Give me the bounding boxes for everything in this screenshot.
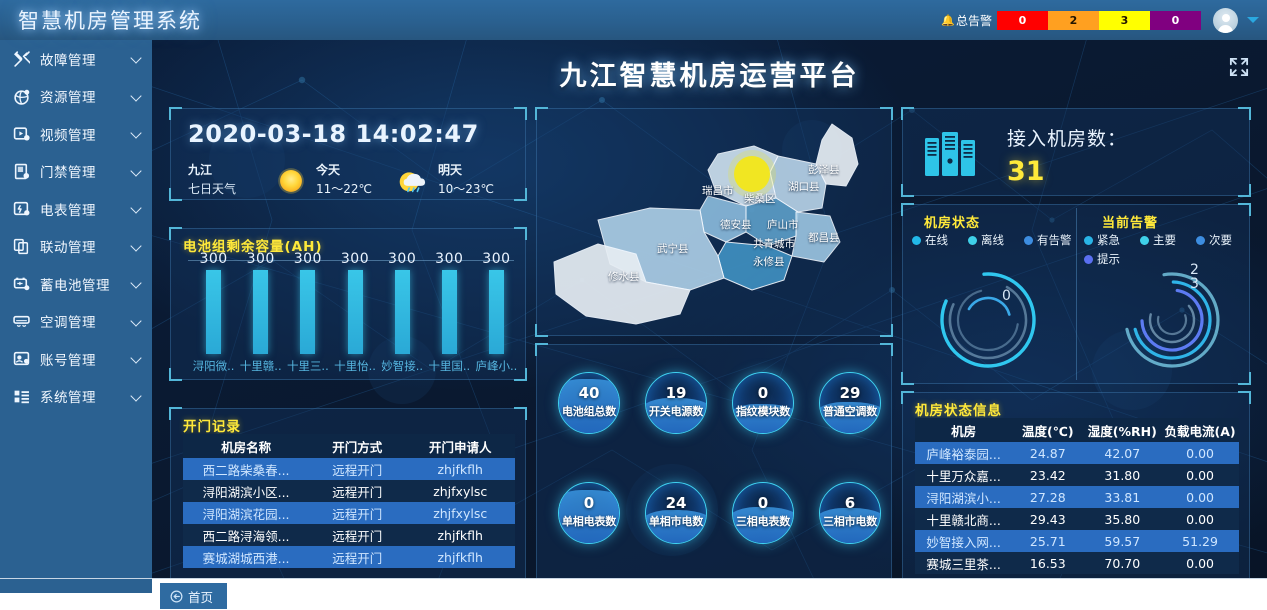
chevron-down-icon[interactable]	[131, 316, 142, 327]
legend-color-dot	[1196, 236, 1205, 245]
bar-column: 300	[239, 251, 283, 354]
room-status-donut-value: 0	[1002, 288, 1011, 304]
home-circle-icon	[170, 590, 183, 603]
room-status-panel-title: 机房状态信息	[915, 399, 1002, 419]
stat-circle-0[interactable]: 40电池组总数	[558, 372, 620, 434]
stat-circle-label: 指纹模块数	[733, 403, 793, 419]
table-row[interactable]: 十里万众嘉...23.4231.800.00	[915, 464, 1239, 486]
clock-weather-panel: 2020-03-18 14:02:47 九江 七日天气	[170, 108, 526, 200]
chevron-down-icon[interactable]	[131, 166, 142, 177]
weather-today: 今天 11～22℃	[272, 161, 372, 199]
legend-label: 次要	[1209, 232, 1232, 248]
current-datetime: 2020-03-18 14:02:47	[188, 120, 479, 148]
table-row[interactable]: 庐峰裕泰园...24.8742.070.00	[915, 442, 1239, 464]
table-row[interactable]: 浔阳湖滨小...27.2833.810.00	[915, 486, 1239, 508]
door-lock-icon	[11, 161, 31, 181]
battery-gear-icon	[11, 274, 31, 294]
stat-circle-6[interactable]: 0三相电表数	[732, 482, 794, 544]
bar-value-label: 300	[286, 251, 330, 267]
table-cell: zhjfkflh	[405, 550, 515, 565]
table-cell: 0.00	[1161, 468, 1239, 483]
table-cell: 远程开门	[309, 526, 405, 545]
stat-circle-label: 单相市电数	[646, 513, 706, 529]
globe-gear-icon	[11, 86, 31, 106]
current-alarm-legend-title: 当前告警	[1102, 212, 1158, 231]
legend-item[interactable]: 次要	[1196, 232, 1232, 248]
video-gear-icon	[11, 124, 31, 144]
table-cell: 0.00	[1161, 556, 1239, 571]
total-alarm-text: 总告警	[956, 12, 992, 29]
stat-circle-value: 29	[820, 384, 880, 402]
table-cell: 赛城湖城西港...	[183, 548, 309, 567]
battery-capacity-panel: 电池组剩余容量(AH) 300300300300300300300 浔阳微..十…	[170, 228, 526, 380]
chevron-down-icon[interactable]	[131, 391, 142, 402]
sidebar-item-label: 故障管理	[40, 49, 131, 69]
wrench-screwdriver-icon	[11, 49, 31, 69]
table-cell: zhjfkflh	[405, 462, 515, 477]
bar-value-label: 300	[239, 251, 283, 267]
map-region-yongxiu	[718, 242, 792, 290]
alarm-badge-minor[interactable]: 3	[1099, 11, 1150, 30]
door-record-table[interactable]: 机房名称开门方式开门申请人西二路柴桑春...远程开门zhjfkflh浔阳湖滨小区…	[183, 434, 515, 584]
sidebar-item-label: 视频管理	[40, 124, 131, 144]
legend-color-dot	[1084, 255, 1093, 264]
bar-category-label: 浔阳微..	[189, 358, 239, 374]
app-brand-title: 智慧机房管理系统	[18, 5, 202, 35]
status-alarm-panel: 机房状态 当前告警 在线离线有告警 紧急主要次要提示 0	[902, 204, 1250, 384]
table-row[interactable]: 浔阳湖滨小区...远程开门zhjfxylsc	[183, 480, 515, 502]
table-cell: 十里赣北商...	[915, 510, 1012, 529]
chevron-down-icon[interactable]	[131, 353, 142, 364]
sidebar-item-label: 门禁管理	[40, 161, 131, 181]
sun-icon	[272, 161, 310, 199]
table-cell: 42.07	[1083, 446, 1161, 461]
bottom-bar: 首页	[0, 578, 1267, 610]
table-row[interactable]: 西二路柴桑春...远程开门zhjfkflh	[183, 458, 515, 480]
table-column-header: 开门申请人	[405, 437, 515, 456]
map-region-duchang	[792, 212, 840, 262]
access-count-value: 31	[1007, 156, 1045, 187]
bar-value-label: 300	[474, 251, 518, 267]
sidebar-item-label: 资源管理	[40, 86, 131, 106]
sidebar-item-label: 电表管理	[40, 199, 131, 219]
chevron-down-icon[interactable]	[131, 241, 142, 252]
page-title: 九江智慧机房运营平台	[152, 54, 1267, 93]
bar-value-label: 300	[192, 251, 236, 267]
legend-item[interactable]: 主要	[1140, 232, 1176, 248]
table-row[interactable]: 浔阳湖滨花园...远程开门zhjfxylsc	[183, 502, 515, 524]
stat-circle-3[interactable]: 29普通空调数	[819, 372, 881, 434]
table-cell: 35.80	[1083, 512, 1161, 527]
top-bar: 智慧机房管理系统 🔔 总告警 0230	[0, 0, 1267, 40]
total-alarm-label: 🔔 总告警	[941, 12, 992, 29]
table-cell: 西二路浔海领...	[183, 526, 309, 545]
copy-link-icon	[11, 236, 31, 256]
bar-category-label: 十里国..	[424, 358, 474, 374]
battery-bar-chart: 300300300300300300300	[184, 258, 516, 354]
table-cell: zhjfxylsc	[405, 506, 515, 521]
bar-rect	[442, 270, 457, 354]
table-row[interactable]: 西二路浔海领...远程开门zhjfkflh	[183, 524, 515, 546]
table-row[interactable]: 十里赣北商...29.4335.800.00	[915, 508, 1239, 530]
chevron-down-icon[interactable]	[131, 278, 142, 289]
sidebar-item-1[interactable]: 资源管理	[0, 78, 152, 116]
table-cell: 0.00	[1161, 446, 1239, 461]
legend-label: 紧急	[1097, 232, 1120, 248]
bar-category-label: 妙智接..	[377, 358, 427, 374]
bar-column: 300	[380, 251, 424, 354]
region-map-panel: 彭泽县瑞昌市湖口县柴桑区德安县庐山市武宁县共青城市都昌县永修县修水县	[536, 108, 892, 336]
current-alarm-donut-chart	[1114, 258, 1234, 376]
legend-label: 离线	[981, 232, 1004, 248]
sidebar-item-4[interactable]: 电表管理	[0, 190, 152, 228]
sidebar-item-3[interactable]: 门禁管理	[0, 153, 152, 191]
list-blocks-icon	[11, 386, 31, 406]
bar-rect	[300, 270, 315, 354]
bar-rect	[253, 270, 268, 354]
battery-bar-xlabels: 浔阳微..十里赣..十里三..十里怡..妙智接..十里国..庐峰小..	[184, 356, 516, 374]
table-cell: 西二路柴桑春...	[183, 460, 309, 479]
sidebar-item-label: 蓄电池管理	[40, 274, 131, 294]
table-cell: zhjfkflh	[405, 528, 515, 543]
sun-rain-cloud-icon	[394, 161, 432, 199]
panel-divider	[1076, 208, 1077, 380]
table-cell: 0.00	[1161, 490, 1239, 505]
room-status-donut-chart	[930, 258, 1050, 376]
bell-icon: 🔔	[941, 14, 955, 27]
stat-circle-label: 单相电表数	[559, 513, 619, 529]
legend-color-dot	[1024, 236, 1033, 245]
chevron-down-icon[interactable]	[131, 128, 142, 139]
sidebar-item-2[interactable]: 视频管理	[0, 115, 152, 153]
sidebar-item-9[interactable]: 系统管理	[0, 378, 152, 416]
bar-value-label: 300	[380, 251, 424, 267]
legend-color-dot	[1084, 236, 1093, 245]
bar-column: 300	[286, 251, 330, 354]
fullscreen-expand-icon[interactable]	[1226, 54, 1252, 80]
table-column-header: 机房	[915, 421, 1012, 440]
table-cell: 远程开门	[309, 460, 405, 479]
meter-gear-icon	[11, 199, 31, 219]
top-bar-right: 🔔 总告警 0230	[941, 0, 1267, 40]
bar-column: 300	[192, 251, 236, 354]
table-cell: 赛城三里茶...	[915, 554, 1012, 573]
access-count-label: 接入机房数：	[1007, 124, 1127, 151]
legend-color-dot	[1140, 236, 1149, 245]
device-stat-circles: 40电池组总数19开关电源数0指纹模块数29普通空调数0单相电表数24单相市电数…	[536, 344, 892, 590]
bar-column: 300	[474, 251, 518, 354]
table-column-header: 负载电流(A)	[1161, 421, 1239, 440]
weather-tomorrow-text: 明天 10～23℃	[438, 161, 494, 199]
device-stats-panel: 40电池组总数19开关电源数0指纹模块数29普通空调数0单相电表数24单相市电数…	[536, 344, 892, 590]
legend-item[interactable]: 紧急	[1084, 232, 1120, 248]
weather-city-block: 九江 七日天气	[188, 161, 272, 199]
stat-circle-1[interactable]: 19开关电源数	[645, 372, 707, 434]
room-status-legend-title: 机房状态	[924, 212, 980, 231]
table-cell: 16.53	[1012, 556, 1083, 571]
legend-color-dot	[968, 236, 977, 245]
chevron-down-icon[interactable]	[131, 91, 142, 102]
user-card-icon	[11, 349, 31, 369]
bar-value-label: 300	[333, 251, 377, 267]
alarm-badge-critical[interactable]: 0	[997, 11, 1048, 30]
stat-circle-value: 0	[733, 494, 793, 512]
weather-today-text: 今天 11～22℃	[316, 161, 372, 199]
table-row[interactable]: 妙智接入网...25.7159.5751.29	[915, 530, 1239, 552]
weather-city-name: 九江	[188, 161, 272, 180]
sidebar-item-label: 空调管理	[40, 311, 131, 331]
stat-circle-value: 40	[559, 384, 619, 402]
table-header-row: 机房温度(℃)湿度(%RH)负载电流(A)	[915, 418, 1239, 442]
stat-circle-value: 19	[646, 384, 706, 402]
table-cell: 远程开门	[309, 482, 405, 501]
legend-label: 在线	[925, 232, 948, 248]
dashboard-stage: 九江智慧机房运营平台 2020-03-18 14:02:47 九江 七日天气	[152, 40, 1267, 596]
weather-seven-day-label: 七日天气	[188, 180, 272, 199]
table-row[interactable]: 赛城湖城西港...远程开门zhjfkflh	[183, 546, 515, 568]
bar-value-label: 300	[427, 251, 471, 267]
stat-circle-label: 电池组总数	[559, 403, 619, 419]
room-status-table[interactable]: 机房温度(℃)湿度(%RH)负载电流(A)庐峰裕泰园...24.8742.070…	[915, 418, 1239, 584]
home-tab[interactable]: 首页	[160, 583, 227, 609]
home-tab-label: 首页	[188, 587, 213, 606]
sidebar-item-6[interactable]: 蓄电池管理	[0, 265, 152, 303]
bar-rect	[395, 270, 410, 354]
table-cell: 0.00	[1161, 512, 1239, 527]
table-column-header: 温度(℃)	[1012, 421, 1083, 440]
table-row[interactable]: 赛城三里茶...16.5370.700.00	[915, 552, 1239, 574]
stat-circle-value: 0	[733, 384, 793, 402]
table-header-row: 机房名称开门方式开门申请人	[183, 434, 515, 458]
alarm-badge-warning[interactable]: 0	[1150, 11, 1201, 30]
alarm-badge-major[interactable]: 2	[1048, 11, 1099, 30]
stat-circle-value: 0	[559, 494, 619, 512]
door-record-panel: 开门记录 机房名称开门方式开门申请人西二路柴桑春...远程开门zhjfkflh浔…	[170, 408, 526, 590]
table-cell: 31.80	[1083, 468, 1161, 483]
stat-circle-label: 开关电源数	[646, 403, 706, 419]
user-avatar-icon[interactable]	[1213, 8, 1238, 33]
access-count-panel: 接入机房数： 31	[902, 108, 1250, 196]
table-cell: zhjfxylsc	[405, 484, 515, 499]
weather-row: 九江 七日天气 今天 11～22℃	[188, 161, 516, 199]
stat-circle-label: 三相电表数	[733, 513, 793, 529]
weather-tomorrow-temp: 10～23℃	[438, 180, 494, 199]
table-cell: 70.70	[1083, 556, 1161, 571]
table-cell: 浔阳湖滨花园...	[183, 504, 309, 523]
alarm-badge-group[interactable]: 0230	[997, 11, 1201, 30]
stat-circle-2[interactable]: 0指纹模块数	[732, 372, 794, 434]
table-cell: 浔阳湖滨小...	[915, 488, 1012, 507]
sidebar-item-5[interactable]: 联动管理	[0, 228, 152, 266]
dashboard-root: 智慧机房管理系统 🔔 总告警 0230 故障管理资源管理视频管理门禁管理电表管理…	[0, 0, 1267, 610]
jiujiang-map[interactable]: 彭泽县瑞昌市湖口县柴桑区德安县庐山市武宁县共青城市都昌县永修县修水县	[540, 112, 888, 332]
stat-circle-5[interactable]: 24单相市电数	[645, 482, 707, 544]
table-cell: 远程开门	[309, 504, 405, 523]
legend-label: 有告警	[1037, 232, 1072, 248]
weather-today-label: 今天	[316, 161, 372, 180]
stat-circle-label: 普通空调数	[820, 403, 880, 419]
table-cell: 59.57	[1083, 534, 1161, 549]
table-cell: 25.71	[1012, 534, 1083, 549]
table-cell: 33.81	[1083, 490, 1161, 505]
legend-item[interactable]: 有告警	[1024, 232, 1072, 248]
weather-today-temp: 11～22℃	[316, 180, 372, 199]
bar-category-label: 十里怡..	[330, 358, 380, 374]
sidebar-nav: 故障管理资源管理视频管理门禁管理电表管理联动管理蓄电池管理空调管理账号管理系统管…	[0, 40, 152, 610]
bar-rect	[206, 270, 221, 354]
sidebar-item-7[interactable]: 空调管理	[0, 303, 152, 341]
stat-circle-7[interactable]: 6三相市电数	[819, 482, 881, 544]
chevron-down-icon[interactable]	[131, 203, 142, 214]
bar-category-label: 十里赣..	[236, 358, 286, 374]
room-status-info-panel: 机房状态信息 机房温度(℃)湿度(%RH)负载电流(A)庐峰裕泰园...24.8…	[902, 392, 1250, 590]
sidebar-item-8[interactable]: 账号管理	[0, 340, 152, 378]
bar-column: 300	[427, 251, 471, 354]
table-cell: 51.29	[1161, 534, 1239, 549]
bottom-bar-sidebar-cap	[0, 579, 152, 593]
bar-rect	[489, 270, 504, 354]
table-cell: 远程开门	[309, 548, 405, 567]
table-cell: 妙智接入网...	[915, 532, 1012, 551]
bar-rect	[348, 270, 363, 354]
chevron-down-icon[interactable]	[131, 53, 142, 64]
door-panel-title: 开门记录	[183, 415, 241, 435]
weather-tomorrow: 明天 10～23℃	[394, 161, 494, 199]
bar-category-label: 十里三..	[283, 358, 333, 374]
legend-item[interactable]: 在线	[912, 232, 948, 248]
stat-circle-value: 6	[820, 494, 880, 512]
air-conditioner-icon	[11, 311, 31, 331]
table-column-header: 开门方式	[309, 437, 405, 456]
table-cell: 29.43	[1012, 512, 1083, 527]
bar-category-label: 庐峰小..	[471, 358, 521, 374]
table-cell: 十里万众嘉...	[915, 466, 1012, 485]
bar-column: 300	[333, 251, 377, 354]
table-cell: 24.87	[1012, 446, 1083, 461]
table-column-header: 机房名称	[183, 437, 309, 456]
legend-item[interactable]: 离线	[968, 232, 1004, 248]
chevron-down-icon[interactable]	[1247, 17, 1259, 23]
table-cell: 庐峰裕泰园...	[915, 444, 1012, 463]
legend-color-dot	[912, 236, 921, 245]
map-svg	[540, 112, 888, 332]
sidebar-item-0[interactable]: 故障管理	[0, 40, 152, 78]
sidebar-item-label: 账号管理	[40, 349, 131, 369]
weather-tomorrow-label: 明天	[438, 161, 494, 180]
table-column-header: 湿度(%RH)	[1083, 421, 1161, 440]
stat-circle-label: 三相市电数	[820, 513, 880, 529]
server-rack-icon	[924, 130, 978, 180]
sidebar-item-label: 联动管理	[40, 236, 131, 256]
table-cell: 浔阳湖滨小区...	[183, 482, 309, 501]
stat-circle-4[interactable]: 0单相电表数	[558, 482, 620, 544]
table-cell: 27.28	[1012, 490, 1083, 505]
table-cell: 23.42	[1012, 468, 1083, 483]
legend-label: 主要	[1153, 232, 1176, 248]
sidebar-item-label: 系统管理	[40, 386, 131, 406]
current-alarm-donut-value-2: 3	[1190, 276, 1199, 292]
stat-circle-value: 24	[646, 494, 706, 512]
